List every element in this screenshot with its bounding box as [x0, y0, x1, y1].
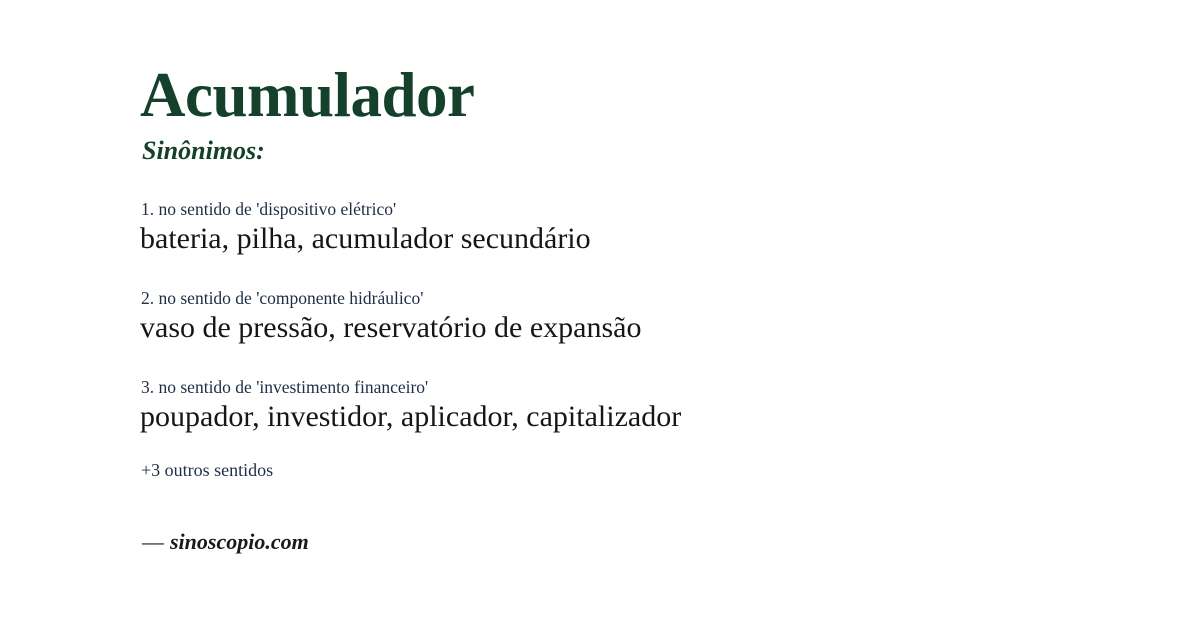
section-label-synonyms: Sinônimos: [142, 135, 265, 166]
source-attribution: —sinoscopio.com [142, 529, 309, 555]
more-senses-note: +3 outros sentidos [141, 460, 273, 482]
sense-list: 1. no sentido de 'dispositivo elétrico' … [140, 199, 681, 435]
sense-synonyms: vaso de pressão, reservatório de expansã… [140, 310, 641, 346]
source-domain: sinoscopio.com [170, 529, 309, 554]
sense-label: 2. no sentido de 'componente hidráulico' [141, 288, 641, 308]
synonym-card: Acumulador Sinônimos: 1. no sentido de '… [0, 0, 1200, 628]
sense-synonyms: bateria, pilha, acumulador secundário [140, 221, 591, 257]
sense-synonyms: poupador, investidor, aplicador, capital… [140, 399, 681, 435]
sense-label: 1. no sentido de 'dispositivo elétrico' [141, 199, 591, 219]
em-dash-icon: — [142, 529, 164, 554]
sense-block: 2. no sentido de 'componente hidráulico'… [140, 288, 641, 346]
sense-label: 3. no sentido de 'investimento financeir… [141, 377, 681, 397]
sense-block: 3. no sentido de 'investimento financeir… [140, 377, 681, 435]
sense-block: 1. no sentido de 'dispositivo elétrico' … [140, 199, 591, 257]
page-title: Acumulador [140, 62, 475, 129]
